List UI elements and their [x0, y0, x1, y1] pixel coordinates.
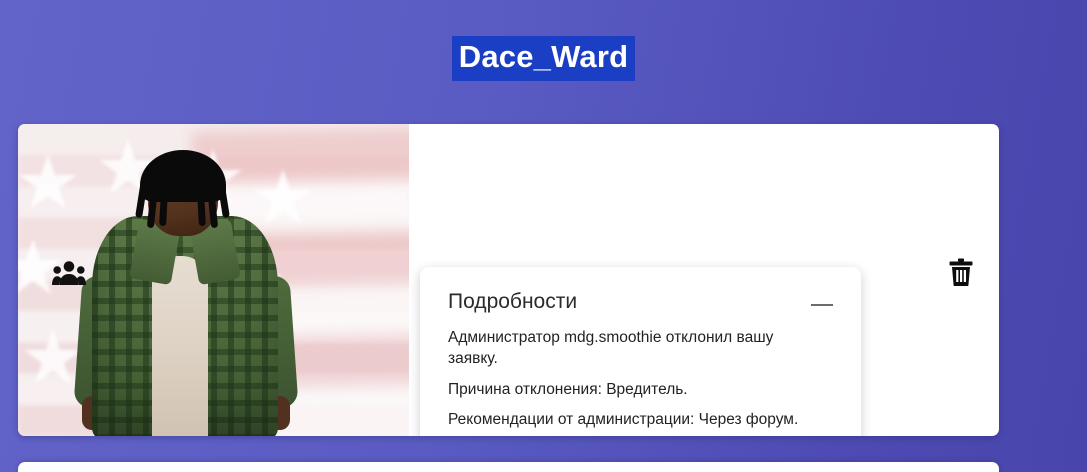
details-body: Администратор mdg.smoothie отклонил вашу…	[448, 327, 835, 436]
trash-icon[interactable]	[949, 258, 973, 286]
details-line-recommendation: Рекомендации от администрации: Через фор…	[448, 409, 820, 430]
details-line-reason: Причина отклонения: Вредитель.	[448, 379, 820, 400]
application-card[interactable]: Отклонен Подробности Администратор mdg.s…	[18, 124, 999, 436]
details-header: Подробности	[448, 289, 835, 317]
minimize-dash-icon[interactable]	[809, 295, 835, 317]
details-line-rejected-by: Администратор mdg.smoothie отклонил вашу…	[448, 327, 820, 370]
users-group-icon[interactable]	[52, 260, 86, 286]
character-figure	[70, 148, 300, 436]
details-title: Подробности	[448, 289, 577, 314]
details-panel: Подробности Администратор mdg.smoothie о…	[420, 267, 861, 436]
next-application-card[interactable]	[18, 462, 999, 472]
page-title: Dace_Ward	[452, 36, 636, 81]
page-title-area: Dace_Ward	[0, 0, 1087, 90]
character-dreadlocks	[136, 162, 230, 224]
